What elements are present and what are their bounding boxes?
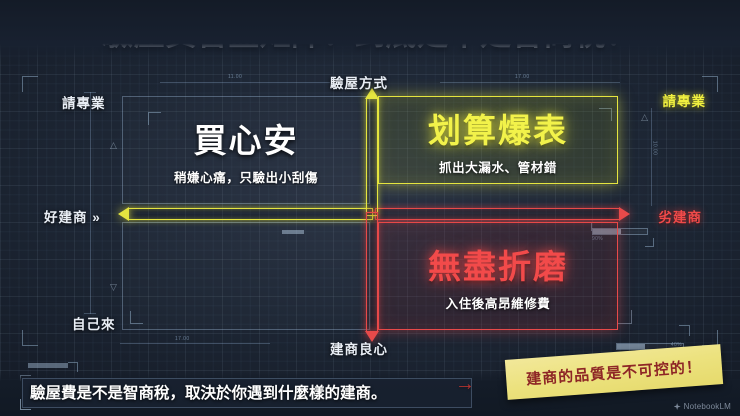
quadrant-top-right-title: 划算爆表	[428, 104, 568, 152]
axis-label-left-middle: 好建商 »	[44, 206, 101, 226]
frame-corner-top-left	[22, 76, 38, 92]
guide-line-right	[651, 108, 652, 206]
vertical-axis-bottom	[364, 212, 380, 342]
horizontal-axis-right	[375, 206, 630, 222]
mini-arrow-up-left: △	[110, 140, 117, 151]
horizontal-axis-right-body	[375, 208, 620, 220]
mini-arrow-down-left: ▽	[110, 282, 117, 293]
guide-line-left	[90, 92, 91, 314]
vertical-axis-top	[364, 88, 380, 216]
vertical-axis-bottom-body	[366, 212, 378, 332]
axis-label-left-bottom: 自己來	[72, 313, 116, 333]
axis-label-right-middle: 劣建商	[659, 206, 703, 226]
quadrant-top-left: 買心安 稍嫌心痛，只驗出小刮傷	[122, 96, 370, 204]
frame-corner-bottom-left	[22, 330, 38, 346]
widget-corner-c	[679, 325, 690, 336]
dimension-label-side-a: 10.00	[652, 141, 658, 156]
horizontal-axis-left	[118, 206, 373, 222]
watermark-label: NotebookLM	[684, 402, 731, 411]
quadrant-bottom-right-content: 無盡折磨 入住後高昂維修費	[378, 222, 618, 330]
quadrant-top-right: 划算爆表 抓出大漏水、管材錯	[378, 96, 618, 184]
quadrant-bottom-right-subtitle: 入住後高昂維修費	[446, 293, 551, 312]
axis-label-right-top: 請專業	[663, 90, 707, 110]
quadrant-top-right-subtitle: 抓出大漏水、管材錯	[439, 157, 557, 176]
dimension-line-bottom	[120, 343, 270, 344]
legend-swatch	[28, 363, 68, 368]
legend-corner	[68, 362, 78, 372]
title-band	[0, 0, 740, 62]
quadrant-top-left-title: 買心安	[194, 114, 299, 162]
note-arrow-icon: →	[455, 374, 475, 394]
progress-fill-2	[617, 344, 645, 349]
quadrant-bottom-right: 無盡折磨 入住後高昂維修費	[378, 222, 618, 330]
dimension-label-right: 17.00	[515, 74, 530, 80]
vertical-axis-top-body	[366, 98, 378, 216]
dimension-line-top-right	[440, 82, 620, 83]
quadrant-bottom-left-content	[122, 222, 370, 330]
quadrant-bottom-right-title: 無盡折磨	[428, 240, 568, 288]
quad-br-corner	[618, 310, 632, 324]
axis-label-left-top: 請專業	[62, 92, 106, 112]
quadrant-top-left-content: 買心安 稍嫌心痛，只驗出小刮傷	[122, 96, 370, 204]
quadrant-top-left-subtitle: 稍嫌心痛，只驗出小刮傷	[174, 167, 318, 186]
notebooklm-watermark: NotebookLM	[674, 402, 731, 411]
dimension-label-bottom: 17.00	[175, 336, 190, 342]
sticky-note-text: 建商的品質是不可控的！	[525, 355, 702, 389]
quadrant-top-right-content: 划算爆表 抓出大漏水、管材錯	[378, 96, 618, 184]
dimension-label-left: 11.00	[228, 74, 242, 80]
axis-label-bottom: 建商良心	[330, 338, 388, 358]
horizontal-axis-left-body	[128, 208, 373, 220]
widget-corner-b	[645, 238, 654, 247]
quadrant-bottom-left	[122, 222, 370, 330]
infographic-canvas: 11.00 17.00 17.00 10.00 90% 40% ISO 9001…	[0, 0, 740, 416]
dimension-line-top-left	[160, 82, 330, 83]
mini-arrow-up-right: △	[641, 112, 648, 123]
sparkle-icon	[674, 403, 681, 410]
axis-label-top: 驗屋方式	[330, 72, 388, 92]
footer-caption: 驗屋費是不是智商稅，取決於你遇到什麼樣的建商。	[30, 381, 387, 403]
horizontal-axis-right-arrowhead	[619, 207, 630, 221]
horizontal-axis-left-arrowhead	[118, 207, 129, 221]
